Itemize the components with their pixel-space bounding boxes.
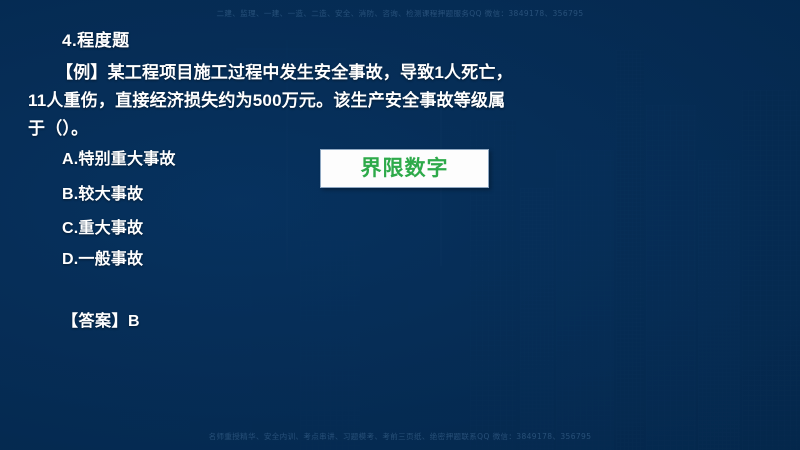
callout-label: 界限数字: [361, 158, 449, 179]
slide-content: 4.程度题 【例】某工程项目施工过程中发生安全事故，导致1人死亡， 11人重伤，…: [0, 0, 800, 450]
answer-option-c: C.重大事故: [62, 214, 143, 238]
question-line-3: 于（）。: [28, 114, 88, 139]
presentation-slide: 二建、监理、一建、一造、二造、安全、消防、咨询、检测课程押题服务QQ 微信：38…: [0, 0, 800, 450]
question-line-1: 【例】某工程项目施工过程中发生安全事故，导致1人死亡，: [56, 58, 513, 83]
answer-option-b: B.较大事故: [62, 180, 143, 204]
answer-option-d: D.一般事故: [62, 245, 143, 269]
section-heading: 4.程度题: [62, 26, 130, 51]
callout-box: 界限数字: [320, 149, 489, 188]
answer-option-a: A.特别重大事故: [62, 145, 176, 169]
question-line-2: 11人重伤，直接经济损失约为500万元。该生产安全事故等级属: [28, 86, 505, 111]
answer-key: 【答案】B: [62, 307, 140, 331]
